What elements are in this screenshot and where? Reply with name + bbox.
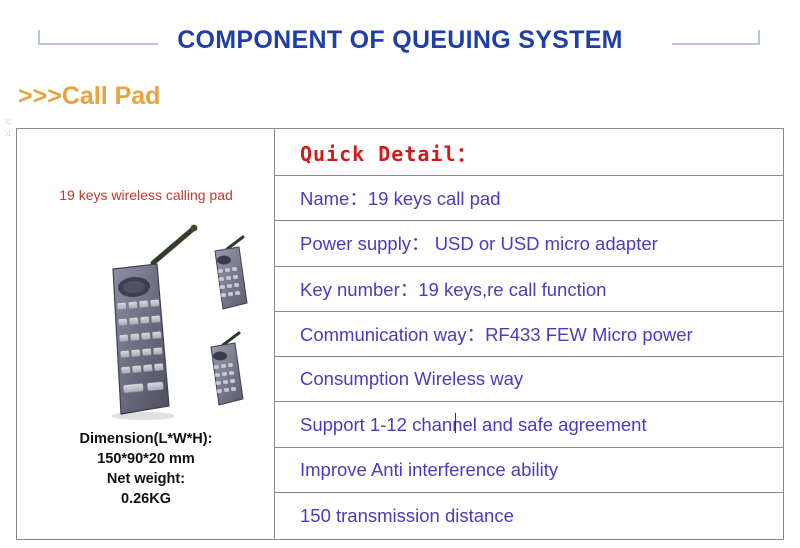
detail-text-transmission-distance: 150 transmission distance (300, 505, 514, 527)
detail-row-consumption: Consumption Wireless way (275, 357, 784, 402)
detail-row-name: Name：19 keys call pad (275, 176, 784, 221)
detail-text-communication-way: Communication way：RF433 FEW Micro power (300, 321, 693, 347)
product-illustration (17, 211, 275, 421)
section-heading: >>>Call Pad (18, 82, 160, 111)
quick-detail-table: Quick Detail： Name：19 keys call pad Powe… (275, 129, 784, 539)
section-arrows: >>> (18, 82, 62, 110)
detail-text-consumption: Consumption Wireless way (300, 368, 523, 390)
detail-row-transmission-distance: 150 transmission distance (275, 493, 784, 538)
detail-row-communication-way: Communication way：RF433 FEW Micro power (275, 312, 784, 357)
dimension-label: Dimension(L*W*H): (17, 429, 275, 449)
detail-text-power-supply: Power supply： USD or USD micro adapter (300, 230, 658, 256)
detail-text-key-number: Key number：19 keys,re call function (300, 276, 606, 302)
detail-text-anti-interference: Improve Anti interference ability (300, 459, 558, 481)
crop-mark-mid-left: ⁙ (4, 130, 12, 139)
detail-row-power-supply: Power supply： USD or USD micro adapter (275, 221, 784, 266)
quick-detail-heading-row: Quick Detail： (275, 129, 784, 176)
text-cursor-artifact (455, 413, 456, 433)
detail-text-channel-support: Support 1-12 channel and safe agreement (300, 414, 647, 436)
call-pad-artwork (17, 211, 275, 421)
dimension-block: Dimension(L*W*H): 150*90*20 mm Net weigh… (17, 429, 275, 509)
page-title: COMPONENT OF QUEUING SYSTEM (0, 26, 800, 55)
section-label-text: Call Pad (62, 82, 161, 110)
page-header: COMPONENT OF QUEUING SYSTEM (0, 0, 800, 70)
net-weight-value: 0.26KG (17, 489, 275, 509)
detail-row-key-number: Key number：19 keys,re call function (275, 267, 784, 312)
crop-mark-top-left: ⁙ (4, 118, 12, 127)
product-image-caption: 19 keys wireless calling pad (31, 187, 261, 203)
detail-text-name: Name：19 keys call pad (300, 185, 501, 211)
detail-row-channel-support: Support 1-12 channel and safe agreement (275, 402, 784, 447)
product-image-cell: 19 keys wireless calling pad (17, 129, 275, 539)
quick-detail-heading: Quick Detail： (300, 138, 478, 167)
dimension-value: 150*90*20 mm (17, 449, 275, 469)
product-detail-panel: 19 keys wireless calling pad (16, 128, 784, 540)
net-weight-label: Net weight: (17, 469, 275, 489)
detail-row-anti-interference: Improve Anti interference ability (275, 448, 784, 493)
